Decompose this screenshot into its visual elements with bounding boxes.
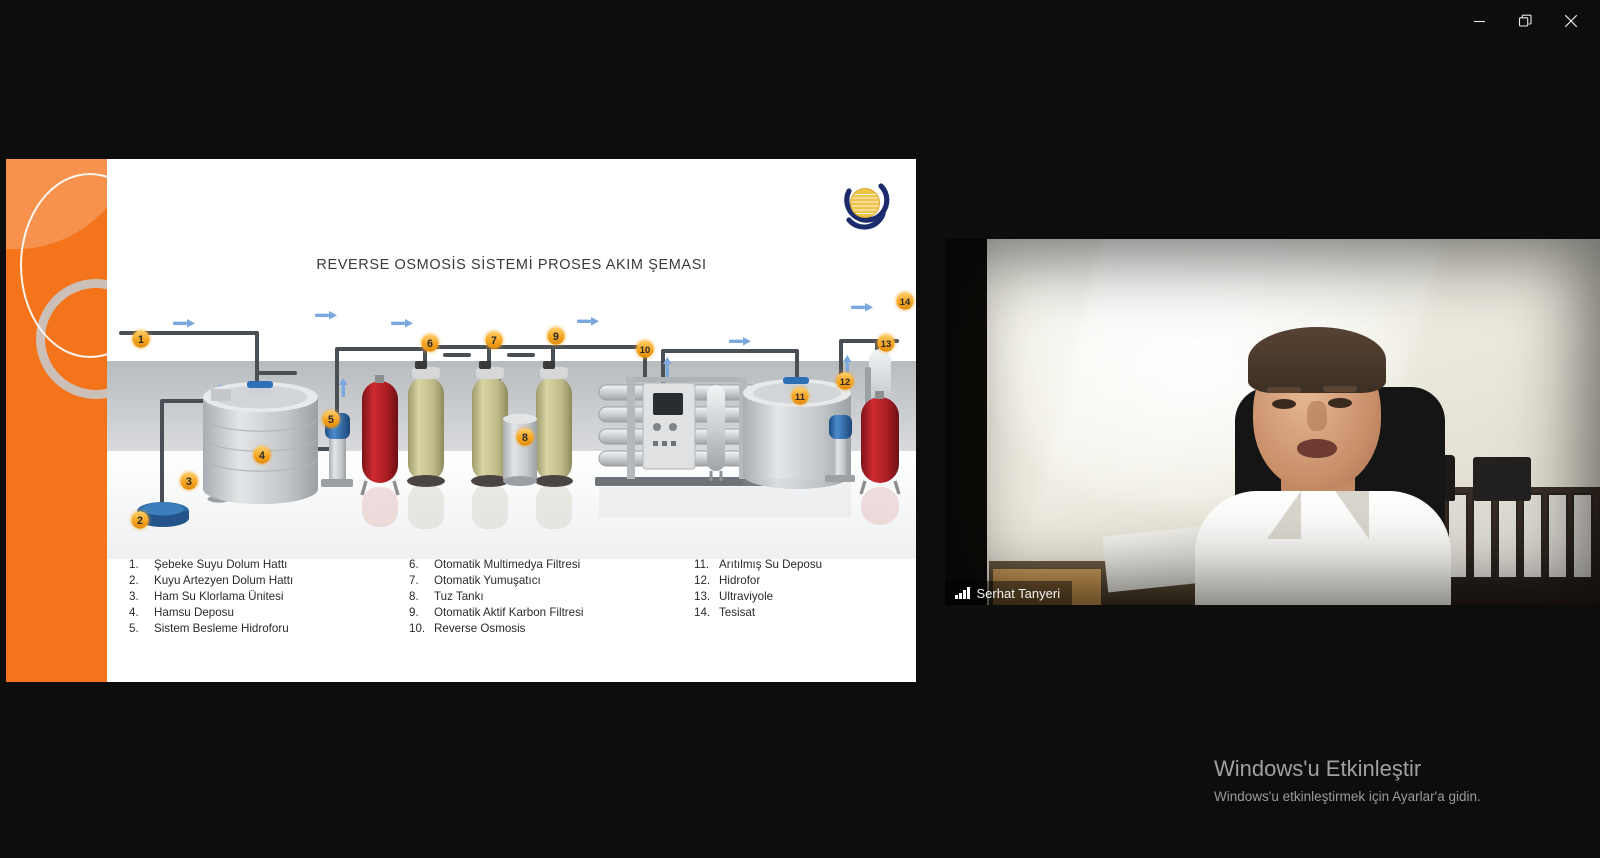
legend-item: 6. Otomatik Multimedya Filtresi (409, 557, 694, 573)
legend-item: 13. Ultraviyole (694, 589, 894, 605)
diagram-marker-8: 8 (513, 425, 537, 449)
legend-item: 1. Şebeke Suyu Dolum Hattı (129, 557, 409, 573)
participant-video-tile[interactable]: Serhat Tanyeri (945, 239, 1600, 605)
diagram-marker-6: 6 (418, 331, 442, 355)
minimize-button[interactable] (1456, 0, 1502, 42)
legend-label: Hidrofor (719, 573, 760, 589)
diagram-marker-7: 7 (482, 328, 506, 352)
restore-icon (1518, 14, 1533, 29)
screen-share-window: REVERSE OSMOSİS SİSTEMİ PROSES AKIM ŞEMA… (0, 0, 1600, 858)
legend-number: 7. (409, 573, 434, 589)
legend-label: Ham Su Klorlama Ünitesi (154, 589, 284, 605)
diagram-marker-2: 2 (128, 508, 152, 532)
close-button[interactable] (1548, 0, 1594, 42)
diagram-marker-3: 3 (177, 469, 201, 493)
diagram-legend: 1. Şebeke Suyu Dolum Hattı 2. Kuyu Artez… (129, 557, 906, 636)
monitor (1473, 457, 1531, 501)
bookshelf (1425, 487, 1600, 605)
white-shirt (1195, 491, 1451, 605)
eyebrow-left (1267, 387, 1301, 393)
legend-column-3: 11. Arıtılmış Su Deposu 12. Hidrofor 13.… (694, 557, 894, 636)
legend-label: Sistem Besleme Hidroforu (154, 621, 289, 637)
legend-item: 9. Otomatik Aktif Karbon Filtresi (409, 605, 694, 621)
diagram-marker-11: 11 (788, 384, 812, 408)
binder (1522, 493, 1543, 579)
equipment-pressure-tank-left (362, 375, 398, 495)
marker-number: 5 (328, 414, 334, 426)
diagram-marker-10: 10 (633, 337, 657, 361)
legend-number: 1. (129, 557, 154, 573)
binder (1472, 493, 1493, 579)
marker-number: 9 (553, 331, 559, 343)
legend-number: 8. (409, 589, 434, 605)
video-left-shadow (945, 239, 989, 605)
marker-number: 11 (795, 391, 805, 402)
collar-right (1335, 491, 1369, 539)
binder (1547, 493, 1568, 579)
legend-item: 14. Tesisat (694, 605, 894, 621)
legend-label: Reverse Osmosis (434, 621, 525, 637)
legend-number: 9. (409, 605, 434, 621)
legend-label: Otomatik Multimedya Filtresi (434, 557, 580, 573)
window-titlebar (0, 0, 1600, 42)
marker-number: 3 (186, 476, 192, 488)
page-title: REVERSE OSMOSİS SİSTEMİ PROSES AKIM ŞEMA… (107, 257, 916, 273)
watermark-subtitle: Windows'u etkinleştirmek için Ayarlar'a … (1214, 789, 1594, 804)
participant-name: Serhat Tanyeri (977, 586, 1061, 601)
marker-number: 10 (640, 344, 650, 355)
binder (1572, 493, 1593, 579)
watermark-title: Windows'u Etkinleştir (1214, 755, 1594, 784)
legend-label: Otomatik Aktif Karbon Filtresi (434, 605, 583, 621)
legend-item: 8. Tuz Tankı (409, 589, 694, 605)
diagram-marker-12: 12 (833, 369, 857, 393)
legend-number: 10. (409, 621, 434, 637)
legend-number: 6. (409, 557, 434, 573)
legend-number: 3. (129, 589, 154, 605)
eye-right (1328, 398, 1352, 408)
mouth (1297, 439, 1337, 458)
legend-label: Kuyu Artezyen Dolum Hattı (154, 573, 293, 589)
marker-number: 4 (259, 450, 265, 462)
legend-number: 4. (129, 605, 154, 621)
legend-label: Şebeke Suyu Dolum Hattı (154, 557, 287, 573)
legend-item: 7. Otomatik Yumuşatıcı (409, 573, 694, 589)
diagram-marker-4: 4 (250, 443, 274, 467)
binder (1497, 493, 1518, 579)
marker-number: 13 (881, 338, 891, 349)
close-icon (1564, 14, 1578, 28)
marker-number: 2 (137, 515, 143, 527)
legend-item: 11. Arıtılmış Su Deposu (694, 557, 894, 573)
presentation-slide: REVERSE OSMOSİS SİSTEMİ PROSES AKIM ŞEMA… (6, 159, 916, 682)
legend-column-2: 6. Otomatik Multimedya Filtresi 7. Otoma… (409, 557, 694, 636)
minimize-icon (1473, 15, 1486, 28)
legend-item: 10. Reverse Osmosis (409, 621, 694, 637)
hair (1248, 327, 1386, 393)
collar-left (1267, 491, 1301, 539)
legend-number: 14. (694, 605, 719, 621)
legend-number: 2. (129, 573, 154, 589)
globe-logo (836, 174, 894, 232)
legend-label: Otomatik Yumuşatıcı (434, 573, 541, 589)
windows-activation-watermark: Windows'u Etkinleştir Windows'u etkinleş… (1214, 755, 1594, 804)
equipment-hamsu-deposu (203, 381, 318, 504)
legend-number: 11. (694, 557, 719, 573)
diagram-marker-14: 14 (893, 289, 916, 313)
legend-item: 2. Kuyu Artezyen Dolum Hattı (129, 573, 409, 589)
diagram-marker-13: 13 (874, 331, 898, 355)
restore-button[interactable] (1502, 0, 1548, 42)
legend-item: 12. Hidrofor (694, 573, 894, 589)
participant-name-tag: Serhat Tanyeri (945, 581, 1072, 605)
slide-accent-bar (6, 159, 107, 682)
legend-number: 5. (129, 621, 154, 637)
marker-number: 8 (522, 432, 528, 444)
diagram-marker-9: 9 (544, 324, 568, 348)
marker-number: 12 (840, 376, 850, 387)
eye-left (1272, 399, 1296, 409)
legend-label: Arıtılmış Su Deposu (719, 557, 822, 573)
legend-label: Tesisat (719, 605, 755, 621)
equipment-filter-vessels (407, 361, 573, 487)
nose (1307, 401, 1327, 431)
legend-item: 3. Ham Su Klorlama Ünitesi (129, 589, 409, 605)
marker-number: 1 (138, 334, 144, 346)
marker-number: 14 (900, 296, 911, 307)
process-flow-diagram: 1234567891011121314 (107, 289, 916, 559)
diagram-marker-1: 1 (129, 327, 153, 351)
slide-content: REVERSE OSMOSİS SİSTEMİ PROSES AKIM ŞEMA… (107, 159, 916, 682)
diagram-marker-5: 5 (319, 407, 343, 431)
legend-column-1: 1. Şebeke Suyu Dolum Hattı 2. Kuyu Artez… (129, 557, 409, 636)
eyebrow-right (1323, 386, 1357, 392)
legend-item: 5. Sistem Besleme Hidroforu (129, 621, 409, 637)
legend-item: 4. Hamsu Deposu (129, 605, 409, 621)
equipment-tuz-tanki (503, 414, 537, 486)
legend-label: Hamsu Deposu (154, 605, 234, 621)
signal-bars-icon (955, 587, 970, 599)
legend-number: 12. (694, 573, 719, 589)
legend-label: Tuz Tankı (434, 589, 484, 605)
legend-label: Ultraviyole (719, 589, 773, 605)
marker-number: 6 (427, 338, 433, 350)
marker-number: 7 (491, 335, 497, 347)
legend-number: 13. (694, 589, 719, 605)
